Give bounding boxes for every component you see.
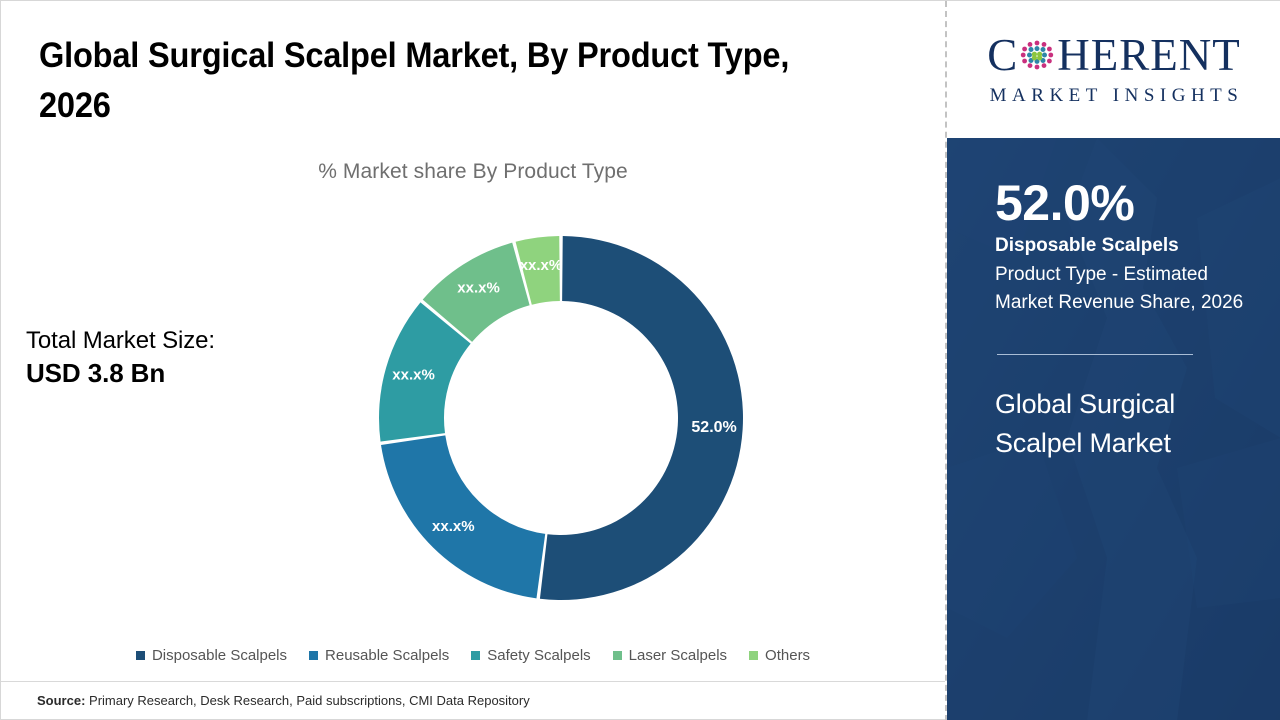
donut-slice-group	[379, 236, 743, 600]
logo-letter-c: C	[987, 33, 1018, 78]
legend-item[interactable]: Safety Scalpels	[471, 647, 590, 664]
legend-swatch-icon	[471, 651, 480, 660]
stat-highlight-panel: 52.0% Disposable Scalpels Product Type -…	[947, 138, 1280, 720]
legend-item[interactable]: Reusable Scalpels	[309, 647, 449, 664]
stat-segment-name: Disposable Scalpels	[995, 232, 1261, 260]
donut-slice-label: xx.x%	[392, 367, 435, 384]
donut-slice-label: xx.x%	[457, 280, 500, 297]
chart-panel: Global Surgical Scalpel Market, By Produ…	[1, 1, 945, 720]
legend-item[interactable]: Laser Scalpels	[613, 647, 727, 664]
source-label: Source:	[37, 693, 85, 708]
legend-label: Laser Scalpels	[629, 647, 727, 664]
logo-wordmark-text: HERENT	[1057, 33, 1240, 78]
donut-chart: 52.0%xx.x%xx.x%xx.x%xx.x%	[371, 228, 751, 608]
brand-panel: C	[947, 1, 1280, 720]
market-size-label: Total Market Size:	[26, 325, 326, 357]
logo-tagline: MARKET INSIGHTS	[985, 85, 1244, 107]
chart-subtitle: % Market share By Product Type	[1, 160, 945, 184]
legend-swatch-icon	[309, 651, 318, 660]
dotted-globe-icon	[1018, 36, 1056, 74]
stat-content: 52.0% Disposable Scalpels Product Type -…	[995, 176, 1261, 463]
stat-percentage: 52.0%	[995, 176, 1261, 230]
source-text: Primary Research, Desk Research, Paid su…	[85, 693, 529, 708]
chart-legend: Disposable ScalpelsReusable ScalpelsSafe…	[1, 647, 945, 664]
stat-market-name: Global Surgical Scalpel Market	[995, 385, 1235, 464]
legend-label: Safety Scalpels	[487, 647, 590, 664]
donut-chart-svg: 52.0%xx.x%xx.x%xx.x%xx.x%	[371, 228, 751, 608]
total-market-size: Total Market Size: USD 3.8 Bn	[26, 325, 326, 391]
source-divider	[1, 681, 945, 682]
donut-slice-label: xx.x%	[520, 257, 563, 274]
stat-description: Product Type - Estimated Market Revenue …	[995, 261, 1245, 318]
legend-swatch-icon	[136, 651, 145, 660]
legend-item[interactable]: Others	[749, 647, 810, 664]
market-size-value: USD 3.8 Bn	[26, 357, 326, 391]
legend-swatch-icon	[613, 651, 622, 660]
donut-slice	[381, 435, 545, 598]
donut-slice-label: 52.0%	[691, 419, 736, 436]
legend-swatch-icon	[749, 651, 758, 660]
donut-slice-label: xx.x%	[432, 518, 475, 535]
logo: C	[947, 1, 1280, 138]
legend-label: Reusable Scalpels	[325, 647, 449, 664]
source-note: Source: Primary Research, Desk Research,…	[37, 693, 530, 708]
logo-wordmark: C	[987, 32, 1241, 78]
legend-item[interactable]: Disposable Scalpels	[136, 647, 287, 664]
infographic-page: Global Surgical Scalpel Market, By Produ…	[0, 0, 1280, 720]
stat-divider	[997, 354, 1193, 355]
legend-label: Others	[765, 647, 810, 664]
page-title: Global Surgical Scalpel Market, By Produ…	[39, 31, 848, 130]
legend-label: Disposable Scalpels	[152, 647, 287, 664]
